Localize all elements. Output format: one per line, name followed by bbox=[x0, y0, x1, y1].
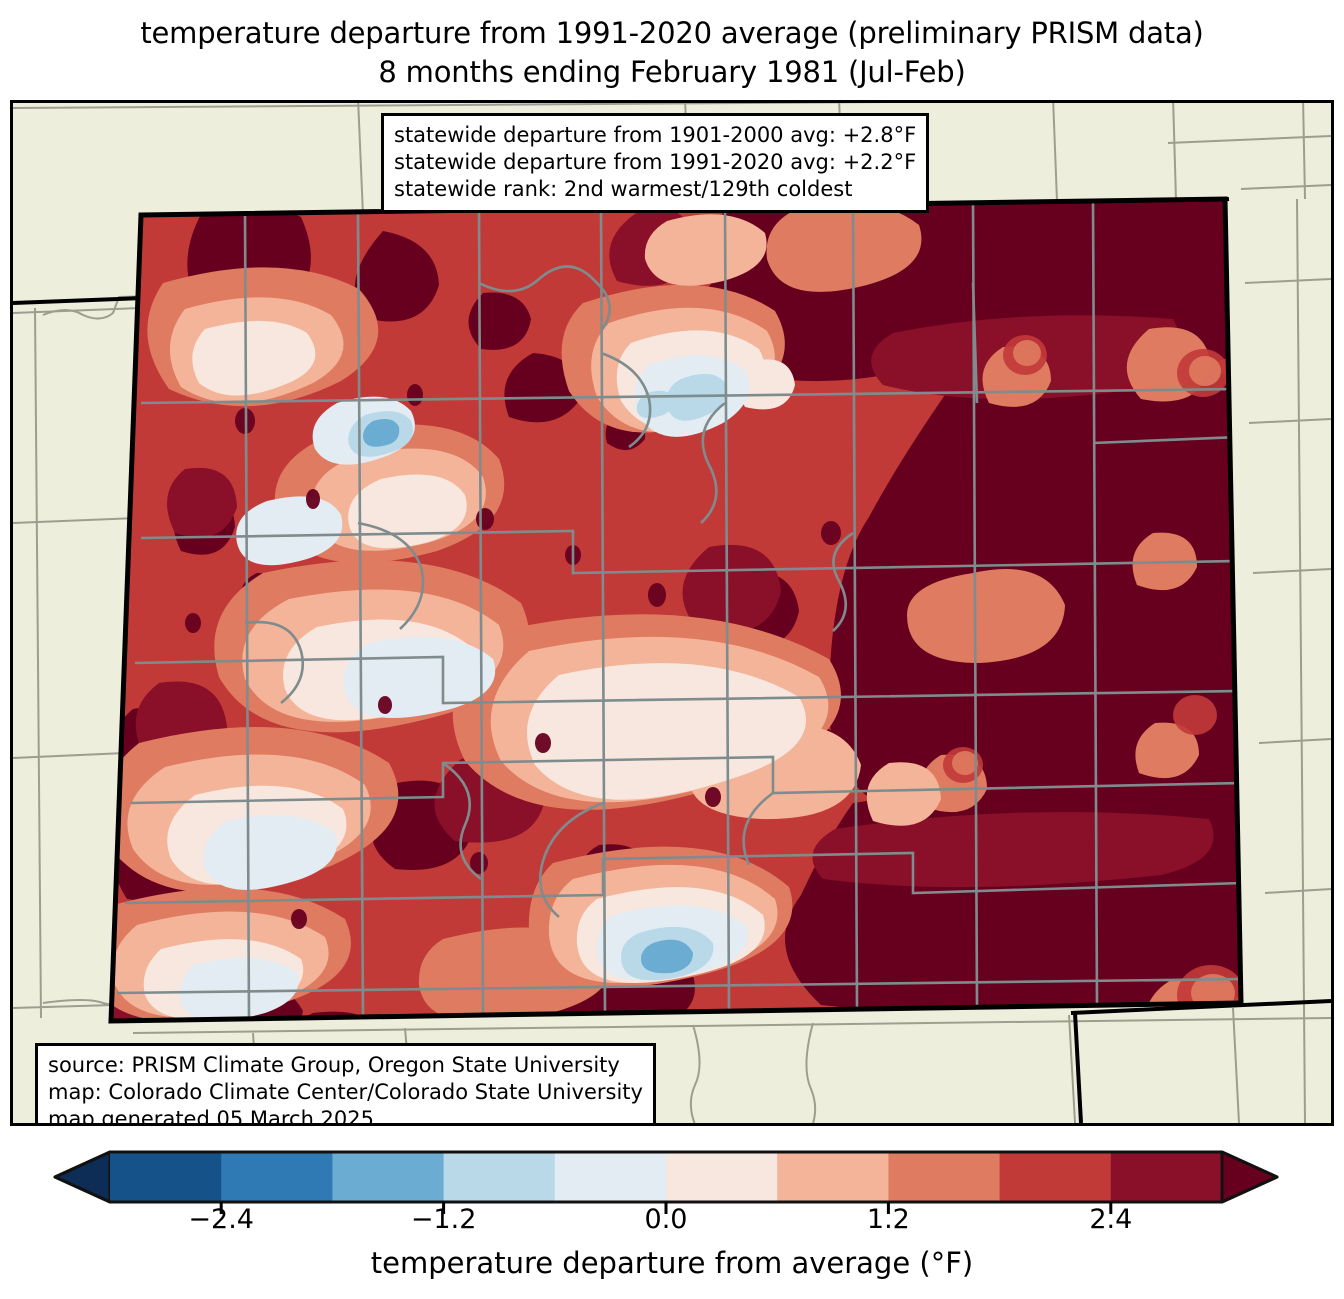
page-title: temperature departure from 1991-2020 ave… bbox=[0, 14, 1344, 92]
colorbar-axis-label: temperature departure from average (°F) bbox=[0, 1246, 1344, 1280]
source-attribution-box: source: PRISM Climate Group, Oregon Stat… bbox=[35, 1043, 656, 1126]
stat-departure-1901-2000: statewide departure from 1901-2000 avg: … bbox=[394, 122, 916, 149]
colorado-temperature-anomaly-map bbox=[13, 103, 1331, 1123]
source-line: source: PRISM Climate Group, Oregon Stat… bbox=[48, 1052, 643, 1079]
colorbar-tick-label: −1.2 bbox=[411, 1204, 477, 1235]
title-line-1: temperature departure from 1991-2020 ave… bbox=[0, 14, 1344, 53]
stat-departure-1991-2020: statewide departure from 1991-2020 avg: … bbox=[394, 149, 916, 176]
title-line-2: 8 months ending February 1981 (Jul-Feb) bbox=[0, 53, 1344, 92]
map-generated-line: map generated 05 March 2025 bbox=[48, 1106, 643, 1126]
colorbar-tick-label: 0.0 bbox=[645, 1204, 688, 1235]
colorbar-tick-label: 2.4 bbox=[1089, 1204, 1132, 1235]
colorbar-band-7 bbox=[888, 1152, 1000, 1202]
colorbar-band-9 bbox=[1111, 1152, 1223, 1202]
colorbar-band-3 bbox=[444, 1152, 556, 1202]
colorbar-band-4 bbox=[555, 1152, 667, 1202]
anomaly-contour-field bbox=[87, 181, 1253, 1107]
colorbar-band-6 bbox=[777, 1152, 889, 1202]
map-frame: statewide departure from 1901-2000 avg: … bbox=[10, 100, 1334, 1126]
colorbar-bands bbox=[55, 1152, 1277, 1202]
colorbar-region: −2.4−1.20.01.22.4 temperature departure … bbox=[0, 1146, 1344, 1299]
stat-statewide-rank: statewide rank: 2nd warmest/129th coldes… bbox=[394, 176, 916, 203]
statewide-statistics-box: statewide departure from 1901-2000 avg: … bbox=[381, 113, 929, 213]
map-credit-line: map: Colorado Climate Center/Colorado St… bbox=[48, 1079, 643, 1106]
colorbar-extend-high bbox=[1222, 1152, 1277, 1202]
climate-map-page: temperature departure from 1991-2020 ave… bbox=[0, 0, 1344, 1299]
colorbar-tick-label: −2.4 bbox=[188, 1204, 254, 1235]
colorbar-band-8 bbox=[1000, 1152, 1112, 1202]
colorbar-band-5 bbox=[666, 1152, 778, 1202]
colorbar-band-0 bbox=[110, 1152, 222, 1202]
colorbar-extend-low bbox=[55, 1152, 110, 1202]
colorbar-tick-label: 1.2 bbox=[867, 1204, 910, 1235]
colorbar-band-1 bbox=[221, 1152, 333, 1202]
colorbar-band-2 bbox=[332, 1152, 444, 1202]
